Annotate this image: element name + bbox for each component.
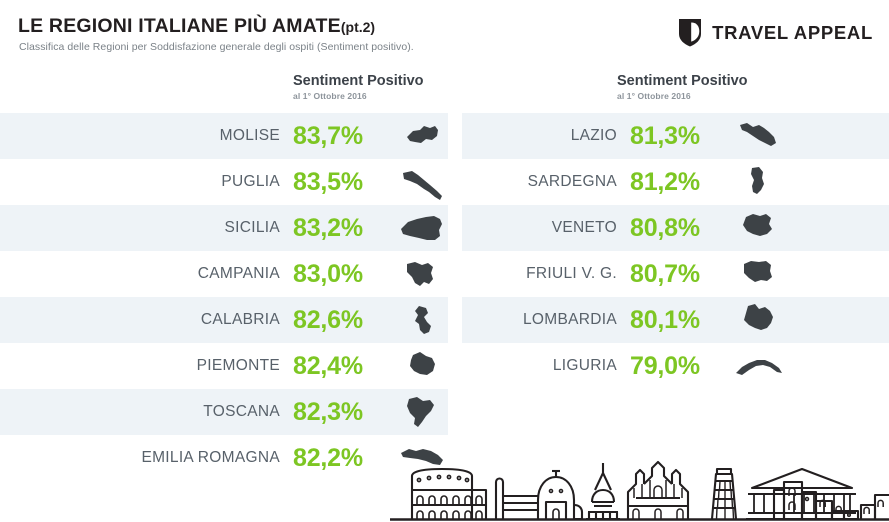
region-name: LAZIO — [462, 127, 617, 145]
column-header-left-title: Sentiment Positivo — [293, 74, 424, 90]
sentiment-value: 83,2% — [293, 214, 393, 243]
molise-shape-icon — [393, 115, 451, 157]
sentiment-value: 82,2% — [293, 444, 393, 473]
column-header-right-title: Sentiment Positivo — [617, 74, 748, 90]
liguria-shape-icon — [730, 345, 788, 387]
sicilia-shape-icon — [393, 207, 451, 249]
table-row: VENETO80,8% — [462, 205, 889, 251]
region-name: CALABRIA — [0, 311, 280, 329]
table-row: LIGURIA79,0% — [462, 343, 889, 389]
sentiment-value: 79,0% — [630, 352, 730, 381]
header: LE REGIONI ITALIANE PIÙ AMATE(pt.2) Clas… — [0, 0, 889, 68]
lombardia-shape-icon — [730, 299, 788, 341]
calabria-shape-icon — [393, 299, 451, 341]
region-name: PUGLIA — [0, 173, 280, 191]
piemonte-shape-icon — [393, 345, 451, 387]
region-name: FRIULI V. G. — [462, 265, 617, 283]
region-name: EMILIA ROMAGNA — [0, 449, 280, 467]
sentiment-value: 81,3% — [630, 122, 730, 151]
region-name: MOLISE — [0, 127, 280, 145]
puglia-shape-icon — [393, 161, 451, 203]
table-row: PIEMONTE82,4% — [0, 343, 448, 389]
brand-logo: TRAVEL APPEAL — [677, 18, 873, 47]
column-header-left: Sentiment Positivo al 1° Ottobre 2016 — [293, 74, 424, 101]
page-title: LE REGIONI ITALIANE PIÙ AMATE — [18, 15, 341, 37]
column-header-right-subtitle: al 1° Ottobre 2016 — [617, 91, 748, 101]
table-row: EMILIA ROMAGNA82,2% — [0, 435, 448, 481]
region-name: LOMBARDIA — [462, 311, 617, 329]
ranking-table-left: MOLISE83,7%PUGLIA83,5%SICILIA83,2%CAMPAN… — [0, 113, 448, 481]
region-name: SICILIA — [0, 219, 280, 237]
region-name: PIEMONTE — [0, 357, 280, 375]
table-row: LAZIO81,3% — [462, 113, 889, 159]
sentiment-value: 82,3% — [293, 398, 393, 427]
sentiment-value: 81,2% — [630, 168, 730, 197]
ranking-table-right: LAZIO81,3%SARDEGNA81,2%VENETO80,8%FRIULI… — [462, 113, 889, 389]
table-row: TOSCANA82,3% — [0, 389, 448, 435]
friuli-shape-icon — [730, 253, 788, 295]
sentiment-value: 83,7% — [293, 122, 393, 151]
sentiment-value: 80,8% — [630, 214, 730, 243]
italian-landmarks-skyline — [390, 460, 889, 522]
region-name: VENETO — [462, 219, 617, 237]
title-block: LE REGIONI ITALIANE PIÙ AMATE(pt.2) — [18, 16, 375, 37]
region-name: CAMPANIA — [0, 265, 280, 283]
sentiment-value: 82,4% — [293, 352, 393, 381]
column-header-right: Sentiment Positivo al 1° Ottobre 2016 — [617, 74, 748, 101]
table-row: PUGLIA83,5% — [0, 159, 448, 205]
region-name: TOSCANA — [0, 403, 280, 421]
sentiment-value: 83,0% — [293, 260, 393, 289]
table-row: SARDEGNA81,2% — [462, 159, 889, 205]
sentiment-value: 80,7% — [630, 260, 730, 289]
table-row: FRIULI V. G.80,7% — [462, 251, 889, 297]
sentiment-value: 80,1% — [630, 306, 730, 335]
region-name: SARDEGNA — [462, 173, 617, 191]
table-row: CAMPANIA83,0% — [0, 251, 448, 297]
table-row: SICILIA83,2% — [0, 205, 448, 251]
page-subtitle: Classifica delle Regioni per Soddisfazio… — [19, 41, 414, 53]
veneto-shape-icon — [730, 207, 788, 249]
table-row: CALABRIA82,6% — [0, 297, 448, 343]
shield-badge-icon — [677, 18, 703, 47]
page-title-part: (pt.2) — [341, 19, 375, 35]
table-row: LOMBARDIA80,1% — [462, 297, 889, 343]
brand-name: TRAVEL APPEAL — [712, 22, 873, 44]
table-row: MOLISE83,7% — [0, 113, 448, 159]
region-name: LIGURIA — [462, 357, 617, 375]
sentiment-value: 83,5% — [293, 168, 393, 197]
toscana-shape-icon — [393, 391, 451, 433]
lazio-shape-icon — [730, 115, 788, 157]
campania-shape-icon — [393, 253, 451, 295]
sentiment-value: 82,6% — [293, 306, 393, 335]
column-header-left-subtitle: al 1° Ottobre 2016 — [293, 91, 424, 101]
sardegna-shape-icon — [730, 161, 788, 203]
